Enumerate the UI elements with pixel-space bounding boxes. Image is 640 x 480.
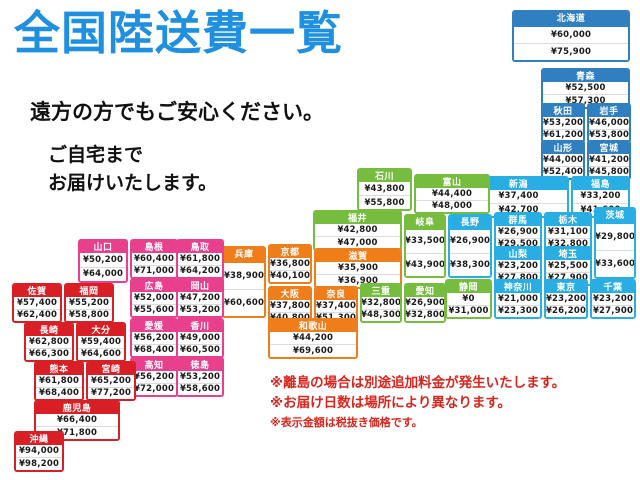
prefecture-prices: ¥21,000¥23,300 (496, 293, 540, 317)
prefecture-name: 福島 (573, 178, 628, 190)
prefecture-prices: ¥52,000¥55,600 (132, 292, 176, 316)
price-v1: ¥33,200 (573, 190, 628, 203)
prefecture-name: 山形 (543, 142, 583, 154)
prefecture-box: 岩手¥46,000¥53,800 (587, 103, 631, 143)
prefecture-name: 秋田 (543, 105, 583, 117)
price-v1: ¥26,900 (406, 297, 444, 309)
price-v1: ¥50,200 (80, 253, 126, 267)
prefecture-name: 香川 (178, 320, 222, 332)
price-v2: ¥68,400 (36, 387, 82, 400)
shipping-fee-poster: 全国陸送費一覧 遠方の方でもご安心ください。 ご自宅までお届けいたします。 北海… (0, 0, 640, 480)
prefecture-prices: ¥94,000¥98,200 (16, 445, 62, 470)
price-v1: ¥36,800 (270, 258, 310, 270)
price-v1: ¥38,900 (224, 263, 264, 289)
price-v1: ¥49,000 (178, 332, 222, 344)
prefecture-name: 石川 (359, 170, 410, 182)
prefecture-name: 愛知 (406, 285, 444, 297)
prefecture-box: 福井¥42,800¥47,000 (313, 210, 402, 251)
price-v1: ¥60,400 (132, 253, 176, 265)
price-v1: ¥46,000 (589, 117, 629, 129)
prefecture-name: 島根 (132, 241, 176, 253)
prefecture-name: 茨城 (596, 209, 634, 224)
prefecture-name: 三重 (362, 285, 400, 297)
price-v2: ¥48,000 (416, 200, 488, 213)
price-v2: ¥64,600 (78, 348, 124, 361)
price-v1: ¥26,900 (450, 230, 490, 253)
prefecture-name: 佐賀 (14, 285, 60, 297)
subtitle-reassurance: 遠方の方でもご安心ください。 (30, 96, 324, 126)
prefecture-prices: ¥65,200¥77,200 (88, 375, 134, 399)
prefecture-name: 滋賀 (316, 250, 400, 262)
price-v1: ¥52,500 (543, 82, 628, 94)
price-v2: ¥55,600 (132, 304, 176, 317)
prefecture-name: 福岡 (66, 285, 112, 297)
price-v1: ¥53,200 (543, 117, 583, 129)
prefecture-name: 青森 (543, 70, 628, 82)
prefecture-name: 鳥取 (178, 241, 222, 253)
price-v1: ¥60,000 (514, 27, 628, 43)
price-v2: ¥77,200 (88, 387, 134, 400)
prefecture-box: 長野¥26,900¥38,300 (448, 214, 492, 278)
price-v1: ¥0 (447, 293, 490, 305)
price-v2: ¥60,600 (224, 289, 264, 316)
notes-block: ※離島の場合は別途追加料金が発生いたします。 ※お届け日数は場所により異なります… (270, 374, 565, 431)
prefecture-name: 岐阜 (406, 216, 444, 230)
prefecture-name: 福井 (315, 212, 400, 224)
prefecture-name: 栃木 (546, 214, 590, 226)
prefecture-box: 秋田¥53,200¥61,200 (541, 103, 585, 143)
price-v1: ¥31,100 (546, 226, 590, 238)
note-tax-excluded: ※表示金額は税抜き価格です。 (270, 415, 565, 431)
price-v2: ¥33,600 (596, 250, 634, 277)
price-v1: ¥37,400 (316, 300, 356, 312)
prefecture-name: 宮崎 (88, 363, 134, 375)
price-v1: ¥23,200 (592, 293, 634, 305)
price-v1: ¥61,800 (36, 375, 82, 387)
prefecture-prices: ¥56,200¥68,400 (132, 332, 176, 356)
prefecture-box: 島根¥60,400¥71,000 (130, 239, 178, 279)
prefecture-name: 熊本 (36, 363, 82, 375)
prefecture-name: 広島 (132, 280, 176, 292)
prefecture-name: 愛媛 (132, 320, 176, 332)
prefecture-name: 徳島 (178, 359, 222, 371)
price-v1: ¥26,900 (496, 226, 540, 238)
price-v2: ¥38,300 (450, 253, 490, 277)
prefecture-name: 京都 (270, 246, 310, 258)
price-v1: ¥44,400 (416, 188, 488, 200)
prefecture-name: 兵庫 (224, 248, 264, 263)
price-v1: ¥56,200 (132, 371, 176, 383)
prefecture-prices: ¥53,200¥58,600 (178, 371, 222, 395)
price-v1: ¥33,500 (406, 230, 444, 253)
prefecture-name: 千葉 (592, 281, 634, 293)
price-v1: ¥41,200 (589, 154, 629, 166)
price-v2: ¥58,600 (178, 383, 222, 396)
price-v1: ¥47,200 (178, 292, 222, 304)
price-v2: ¥31,000 (447, 305, 490, 318)
prefecture-box: 福岡¥55,200¥58,800 (64, 283, 114, 323)
prefecture-box: 岡山¥47,200¥53,200 (176, 278, 224, 318)
prefecture-prices: ¥60,000¥75,900 (514, 27, 628, 60)
prefecture-box: 富山¥44,400¥48,000 (414, 174, 490, 214)
prefecture-prices: ¥61,800¥64,200 (178, 253, 222, 277)
prefecture-box: 三重¥32,800¥48,300 (360, 283, 402, 323)
prefecture-name: 山梨 (496, 248, 540, 260)
price-v2: ¥66,300 (26, 348, 72, 361)
price-v2: ¥72,000 (132, 383, 176, 396)
prefecture-name: 宮城 (589, 142, 629, 154)
note-delivery-days: ※お届け日数は場所により異なります。 (270, 394, 565, 414)
prefecture-box: 岐阜¥33,500¥43,900 (404, 214, 446, 278)
prefecture-prices: ¥0¥31,000 (447, 293, 490, 317)
prefecture-prices: ¥26,900¥38,300 (450, 230, 490, 276)
prefecture-prices: ¥46,000¥53,800 (589, 117, 629, 141)
prefecture-box: 東京¥23,200¥26,200 (544, 279, 588, 319)
prefecture-name: 群馬 (496, 214, 540, 226)
prefecture-box: 茨城¥29,800¥33,600 (594, 207, 636, 279)
price-v1: ¥25,500 (546, 260, 590, 272)
price-v2: ¥32,800 (406, 309, 444, 322)
prefecture-prices: ¥57,400¥62,400 (14, 297, 60, 321)
price-v2: ¥64,200 (178, 265, 222, 278)
prefecture-name: 東京 (546, 281, 586, 293)
prefecture-name: 埼玉 (546, 248, 590, 260)
prefecture-prices: ¥62,800¥66,300 (26, 336, 72, 360)
prefecture-name: 鹿児島 (36, 402, 118, 414)
prefecture-box: 徳島¥53,200¥58,600 (176, 357, 224, 397)
prefecture-box: 京都¥36,800¥40,100 (268, 244, 312, 284)
prefecture-prices: ¥44,000¥52,400 (543, 154, 583, 178)
price-v1: ¥23,200 (546, 293, 586, 305)
prefecture-box: 熊本¥61,800¥68,400 (34, 361, 84, 401)
prefecture-prices: ¥55,200¥58,800 (66, 297, 112, 321)
price-v2: ¥71,000 (132, 265, 176, 278)
prefecture-prices: ¥23,200¥26,200 (546, 293, 586, 317)
prefecture-prices: ¥61,800¥68,400 (36, 375, 82, 399)
price-v1: ¥23,200 (496, 260, 540, 272)
prefecture-name: 長崎 (26, 324, 72, 336)
prefecture-box: 佐賀¥57,400¥62,400 (12, 283, 62, 323)
prefecture-box: 兵庫¥38,900¥60,600 (222, 246, 266, 318)
price-v2: ¥75,900 (514, 43, 628, 60)
price-v2: ¥69,600 (270, 344, 356, 357)
price-v2: ¥58,800 (66, 309, 112, 322)
prefecture-box: 高知¥56,200¥72,000 (130, 357, 178, 397)
prefecture-name: 沖縄 (16, 433, 62, 445)
price-v2: ¥43,900 (406, 253, 444, 277)
prefecture-prices: ¥38,900¥60,600 (224, 263, 264, 316)
prefecture-prices: ¥33,500¥43,900 (406, 230, 444, 276)
prefecture-name: 和歌山 (270, 320, 356, 332)
subtitle-delivery: ご自宅までお届けいたします。 (48, 142, 217, 197)
prefecture-prices: ¥43,800¥55,800 (359, 182, 410, 209)
prefecture-box: 神奈川¥21,000¥23,300 (494, 279, 542, 319)
prefecture-name: 山口 (80, 241, 126, 253)
prefecture-name: 北海道 (514, 12, 628, 27)
price-v1: ¥37,800 (270, 300, 310, 312)
prefecture-prices: ¥59,400¥64,600 (78, 336, 124, 360)
price-v2: ¥53,200 (178, 304, 222, 317)
prefecture-name: 富山 (416, 176, 488, 188)
prefecture-box: 千葉¥23,200¥27,900 (590, 279, 636, 319)
prefecture-box: 山口¥50,200¥64,000 (78, 239, 128, 283)
prefecture-box: 宮城¥41,200¥45,800 (587, 140, 631, 180)
prefecture-name: 岩手 (589, 105, 629, 117)
prefecture-name: 岡山 (178, 280, 222, 292)
prefecture-name: 高知 (132, 359, 176, 371)
prefecture-prices: ¥49,000¥60,500 (178, 332, 222, 356)
price-v1: ¥44,000 (543, 154, 583, 166)
prefecture-prices: ¥29,800¥33,600 (596, 224, 634, 277)
price-v1: ¥53,200 (178, 371, 222, 383)
price-v1: ¥57,400 (14, 297, 60, 309)
note-remote-islands: ※離島の場合は別途追加料金が発生いたします。 (270, 374, 565, 394)
price-v2: ¥64,000 (80, 267, 126, 282)
price-v2: ¥60,500 (178, 344, 222, 357)
price-v1: ¥66,400 (36, 414, 118, 426)
prefecture-prices: ¥32,800¥48,300 (362, 297, 400, 321)
page-title: 全国陸送費一覧 (14, 8, 343, 59)
price-v1: ¥35,900 (316, 262, 400, 274)
price-v1: ¥42,800 (315, 224, 400, 236)
price-v1: ¥32,800 (362, 297, 400, 309)
prefecture-prices: ¥44,400¥48,000 (416, 188, 488, 212)
prefecture-name: 静岡 (447, 281, 490, 293)
price-v1: ¥44,200 (270, 332, 356, 344)
price-v1: ¥65,200 (88, 375, 134, 387)
price-v2: ¥23,300 (496, 305, 540, 318)
price-v1: ¥62,800 (26, 336, 72, 348)
prefecture-box: 北海道¥60,000¥75,900 (512, 10, 630, 62)
prefecture-name: 大分 (78, 324, 124, 336)
prefecture-prices: ¥50,200¥64,000 (80, 253, 126, 281)
prefecture-prices: ¥23,200¥27,900 (592, 293, 634, 317)
prefecture-name: 大阪 (270, 288, 310, 300)
prefecture-box: 石川¥43,800¥55,800 (357, 168, 412, 211)
prefecture-box: 愛知¥26,900¥32,800 (404, 283, 446, 323)
prefecture-box: 愛媛¥56,200¥68,400 (130, 318, 178, 358)
price-v2: ¥68,400 (132, 344, 176, 357)
price-v1: ¥43,800 (359, 182, 410, 195)
prefecture-prices: ¥41,200¥45,800 (589, 154, 629, 178)
price-v1: ¥29,800 (596, 224, 634, 250)
prefecture-prices: ¥60,400¥71,000 (132, 253, 176, 277)
prefecture-box: 宮崎¥65,200¥77,200 (86, 361, 136, 401)
prefecture-name: 神奈川 (496, 281, 540, 293)
price-v1: ¥94,000 (16, 445, 62, 457)
prefecture-box: 広島¥52,000¥55,600 (130, 278, 178, 318)
prefecture-prices: ¥44,200¥69,600 (270, 332, 356, 357)
price-v2: ¥26,200 (546, 305, 586, 318)
price-v1: ¥61,800 (178, 253, 222, 265)
price-v1: ¥55,200 (66, 297, 112, 309)
price-v1: ¥21,000 (496, 293, 540, 305)
price-v2: ¥55,800 (359, 195, 410, 209)
prefecture-box: 大分¥59,400¥64,600 (76, 322, 126, 362)
prefecture-box: 沖縄¥94,000¥98,200 (14, 431, 64, 472)
prefecture-name: 長野 (450, 216, 490, 230)
price-v2: ¥62,400 (14, 309, 60, 322)
price-v1: ¥56,200 (132, 332, 176, 344)
prefecture-box: 長崎¥62,800¥66,300 (24, 322, 74, 362)
prefecture-box: 和歌山¥44,200¥69,600 (268, 318, 358, 359)
prefecture-prices: ¥26,900¥32,800 (406, 297, 444, 321)
price-v1: ¥52,000 (132, 292, 176, 304)
price-v2: ¥48,300 (362, 309, 400, 322)
price-v2: ¥98,200 (16, 457, 62, 470)
prefecture-prices: ¥42,800¥47,000 (315, 224, 400, 249)
prefecture-box: 鳥取¥61,800¥64,200 (176, 239, 224, 279)
prefecture-prices: ¥47,200¥53,200 (178, 292, 222, 316)
price-v1: ¥59,400 (78, 336, 124, 348)
prefecture-box: 香川¥49,000¥60,500 (176, 318, 224, 358)
prefecture-box: 静岡¥0¥31,000 (445, 279, 492, 319)
price-v2: ¥27,900 (592, 305, 634, 318)
price-v2: ¥40,100 (270, 270, 310, 283)
prefecture-box: 山形¥44,000¥52,400 (541, 140, 585, 180)
prefecture-name: 奈良 (316, 288, 356, 300)
prefecture-prices: ¥53,200¥61,200 (543, 117, 583, 141)
prefecture-prices: ¥36,800¥40,100 (270, 258, 310, 282)
prefecture-prices: ¥56,200¥72,000 (132, 371, 176, 395)
